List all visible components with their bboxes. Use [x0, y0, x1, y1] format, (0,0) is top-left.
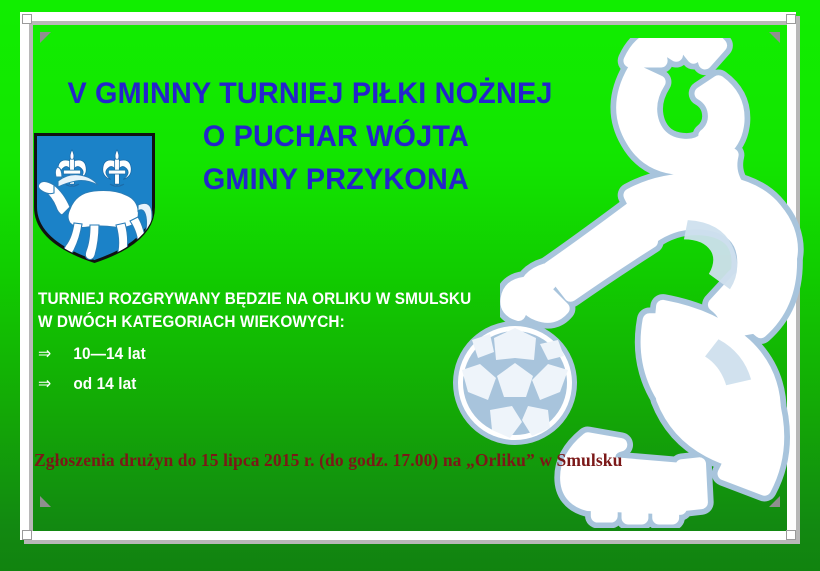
list-item: ⇒od 14 lat — [38, 372, 522, 396]
poster-canvas: V GMINNY TURNIEJ PIŁKI NOŻNEJ O PUCHAR W… — [0, 0, 820, 571]
corner-tick-top-right — [769, 32, 780, 43]
age-category-label: 10—14 lat — [73, 345, 145, 363]
registration-deadline-line: Zgłoszenia drużyn do 15 lipca 2015 r. (d… — [34, 450, 734, 471]
categories-line: W DWÓCH KATEGORIACH WIEKOWYCH: — [38, 311, 522, 334]
headline-line-3: GMINY PRZYKONA — [12, 158, 607, 201]
headline-line-2: O PUCHAR WÓJTA — [12, 115, 607, 158]
headline-line-1: V GMINNY TURNIEJ PIŁKI NOŻNEJ — [12, 72, 607, 115]
double-arrow-icon: ⇒ — [38, 372, 73, 395]
age-category-list: ⇒10—14 lat ⇒od 14 lat — [38, 342, 522, 396]
corner-tick-bottom-right — [769, 496, 780, 507]
corner-tick-top-left — [40, 32, 51, 43]
age-category-label: od 14 lat — [73, 375, 136, 393]
resize-handle-bottom-left[interactable] — [22, 530, 32, 540]
double-arrow-icon: ⇒ — [38, 342, 73, 365]
list-item: ⇒10—14 lat — [38, 342, 522, 366]
details-block: TURNIEJ ROZGRYWANY BĘDZIE NA ORLIKU W SM… — [38, 288, 522, 402]
page-title: V GMINNY TURNIEJ PIŁKI NOŻNEJ O PUCHAR W… — [12, 72, 607, 201]
resize-handle-bottom-right[interactable] — [786, 530, 796, 540]
corner-tick-bottom-left — [40, 496, 51, 507]
resize-handle-top-left[interactable] — [22, 14, 32, 24]
venue-line: TURNIEJ ROZGRYWANY BĘDZIE NA ORLIKU W SM… — [38, 288, 522, 311]
resize-handle-top-right[interactable] — [786, 14, 796, 24]
